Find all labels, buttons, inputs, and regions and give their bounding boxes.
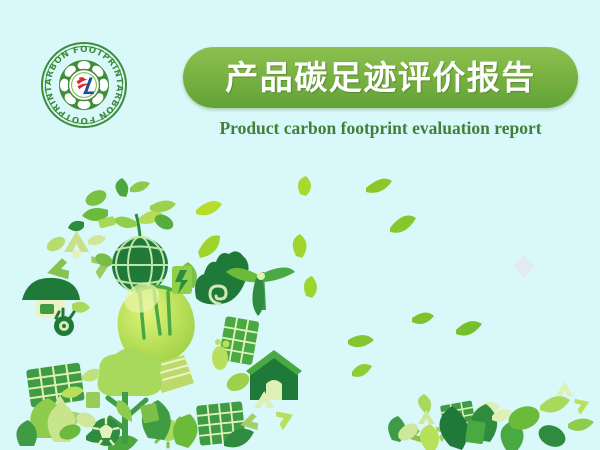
report-cover-page: CARBON FOOTPRINT · CARBON FOOTPRINT ·	[0, 0, 600, 450]
page-title: 产品碳足迹评价报告	[225, 61, 536, 94]
page-subtitle: Product carbon footprint evaluation repo…	[183, 118, 578, 139]
cover-header: CARBON FOOTPRINT · CARBON FOOTPRINT ·	[0, 0, 600, 165]
report-title-banner: 产品碳足迹评价报告	[183, 47, 578, 108]
carbon-footprint-seal-icon: CARBON FOOTPRINT · CARBON FOOTPRINT ·	[40, 41, 128, 129]
eco-footprint-icon-collage	[0, 170, 600, 450]
